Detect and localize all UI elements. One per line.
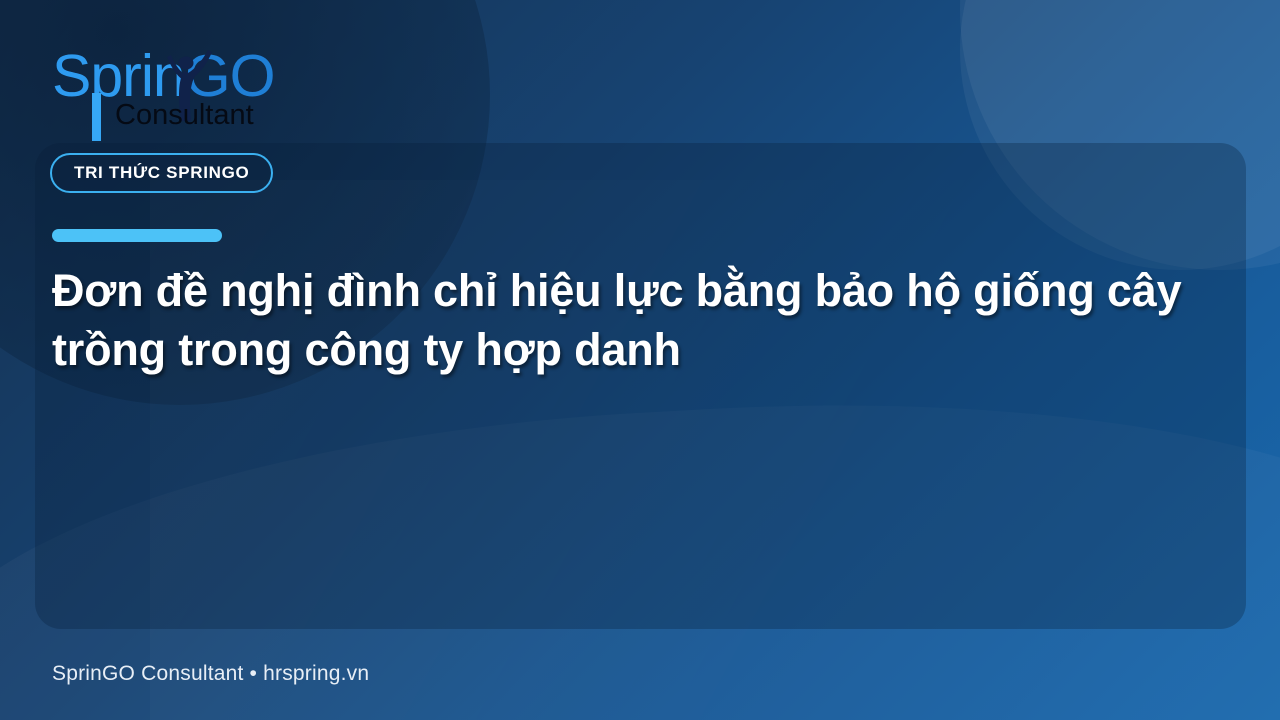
springo-logo: SprinGO Consultant xyxy=(52,47,302,143)
logo-subtitle: Consultant xyxy=(115,101,254,130)
page-title: Đơn đề nghị đình chỉ hiệu lực bằng bảo h… xyxy=(52,262,1192,379)
logo-accent-bar xyxy=(92,93,101,141)
category-badge-label: TRI THỨC SPRINGO xyxy=(74,163,249,183)
content-card-panel xyxy=(35,143,1246,629)
category-badge[interactable]: TRI THỨC SPRINGO xyxy=(50,153,273,193)
footer-attribution: SprinGO Consultant • hrspring.vn xyxy=(52,662,369,686)
title-accent-bar xyxy=(52,229,222,242)
slide-canvas: SprinGO Consultant TRI THỨC SPRINGO Đơn … xyxy=(0,0,1280,720)
